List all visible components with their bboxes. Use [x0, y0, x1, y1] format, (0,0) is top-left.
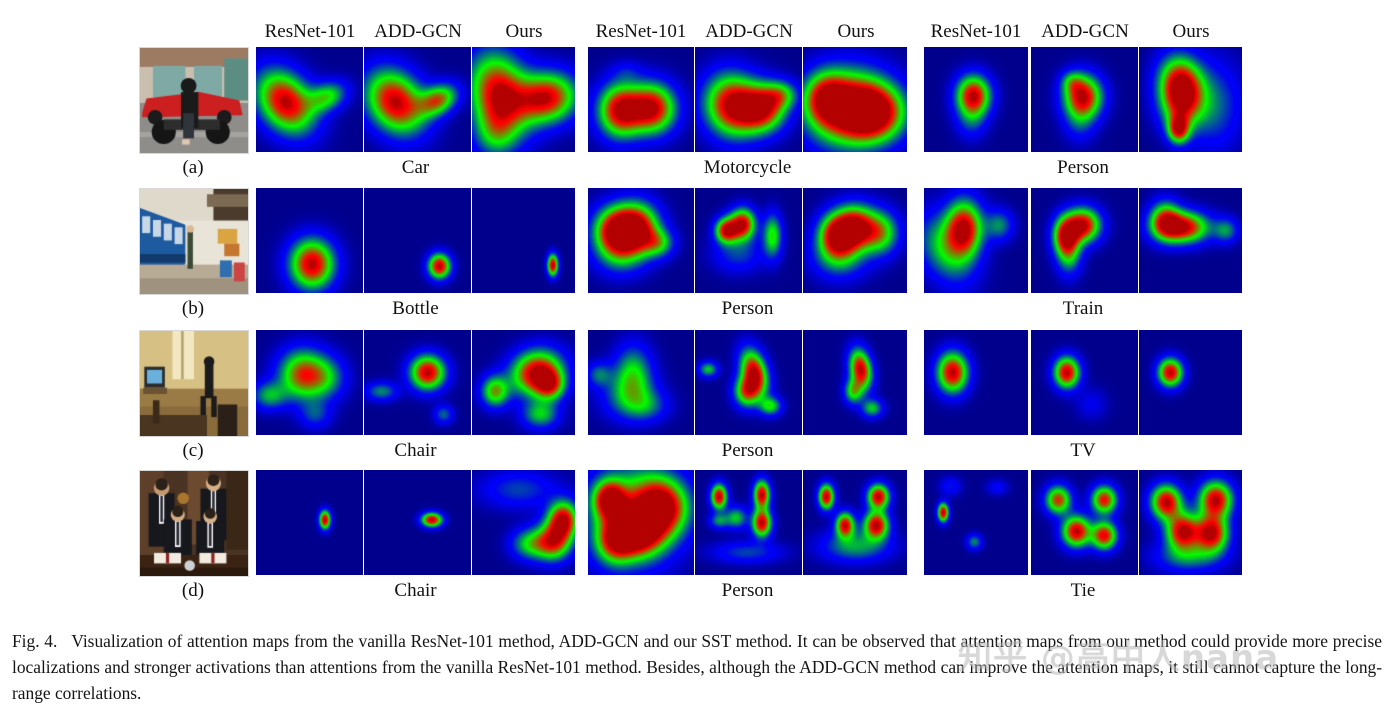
class-label-a-motorcycle: Motorcycle — [588, 157, 907, 179]
heatmap-a-person-ours — [1139, 47, 1242, 152]
class-label-c-chair: Chair — [256, 440, 575, 462]
heatmap-d-chair-ours — [472, 470, 575, 575]
heatmap-b-bottle-addgcn — [364, 188, 471, 293]
attention-map-figure: ResNet-101 ADD-GCN Ours ResNet-101 ADD-G… — [0, 0, 1393, 710]
heatmap-b-train-addgcn — [1031, 188, 1138, 293]
class-label-b-train: Train — [924, 298, 1242, 320]
heatmap-b-bottle-ours — [472, 188, 575, 293]
sample-photo-c — [139, 330, 249, 437]
figure-number: Fig. 4. — [12, 631, 57, 651]
heatmap-c-person-resnet101 — [588, 330, 694, 435]
column-header-addgcn-g2: ADD-GCN — [695, 20, 803, 44]
row-label-a: (a) — [139, 157, 247, 179]
heatmap-a-motorcycle-addgcn — [695, 47, 802, 152]
heatmap-c-tv-addgcn — [1031, 330, 1138, 435]
class-label-d-tie: Tie — [924, 580, 1242, 602]
class-label-b-person: Person — [588, 298, 907, 320]
heatmap-c-chair-ours — [472, 330, 575, 435]
class-label-a-person: Person — [924, 157, 1242, 179]
class-label-c-person: Person — [588, 440, 907, 462]
heatmap-c-tv-resnet101 — [924, 330, 1028, 435]
heatmap-b-person-resnet101 — [588, 188, 694, 293]
heatmap-c-tv-ours — [1139, 330, 1242, 435]
heatmap-c-chair-resnet101 — [256, 330, 363, 435]
column-header-addgcn-g1: ADD-GCN — [364, 20, 472, 44]
class-label-c-tv: TV — [924, 440, 1242, 462]
column-header-ours-g3: Ours — [1140, 20, 1242, 44]
heatmap-c-person-addgcn — [695, 330, 802, 435]
sample-photo-d — [139, 470, 249, 577]
figure-caption-text: Visualization of attention maps from the… — [12, 631, 1382, 703]
heatmap-b-train-ours — [1139, 188, 1242, 293]
heatmap-d-chair-addgcn — [364, 470, 471, 575]
heatmap-a-car-ours — [472, 47, 575, 152]
column-header-resnet101-g3: ResNet-101 — [924, 20, 1028, 44]
sample-photo-a — [139, 47, 249, 154]
class-label-a-car: Car — [256, 157, 575, 179]
row-label-c: (c) — [139, 440, 247, 462]
heatmap-b-person-addgcn — [695, 188, 802, 293]
heatmap-d-tie-resnet101 — [924, 470, 1028, 575]
heatmap-a-person-resnet101 — [924, 47, 1028, 152]
heatmap-a-car-addgcn — [364, 47, 471, 152]
class-label-d-chair: Chair — [256, 580, 575, 602]
column-header-ours-g2: Ours — [804, 20, 908, 44]
figure-row-d — [0, 470, 1393, 575]
heatmap-d-tie-ours — [1139, 470, 1242, 575]
heatmap-a-motorcycle-resnet101 — [588, 47, 694, 152]
heatmap-d-person-resnet101 — [588, 470, 694, 575]
figure-row-c — [0, 330, 1393, 435]
class-label-b-bottle: Bottle — [256, 298, 575, 320]
figure-row-a — [0, 47, 1393, 152]
column-header-ours-g1: Ours — [472, 20, 576, 44]
column-header-resnet101-g1: ResNet-101 — [256, 20, 364, 44]
figure-caption: Fig. 4.Visualization of attention maps f… — [12, 628, 1382, 706]
heatmap-c-person-ours — [803, 330, 907, 435]
heatmap-b-train-resnet101 — [924, 188, 1028, 293]
heatmap-b-person-ours — [803, 188, 907, 293]
class-label-d-person: Person — [588, 580, 907, 602]
heatmap-d-tie-addgcn — [1031, 470, 1138, 575]
row-label-b: (b) — [139, 298, 247, 320]
column-header-resnet101-g2: ResNet-101 — [588, 20, 694, 44]
row-label-d: (d) — [139, 580, 247, 602]
heatmap-d-person-ours — [803, 470, 907, 575]
heatmap-a-person-addgcn — [1031, 47, 1138, 152]
heatmap-c-chair-addgcn — [364, 330, 471, 435]
sample-photo-b — [139, 188, 249, 295]
heatmap-d-person-addgcn — [695, 470, 802, 575]
figure-row-b — [0, 188, 1393, 293]
heatmap-b-bottle-resnet101 — [256, 188, 363, 293]
heatmap-a-car-resnet101 — [256, 47, 363, 152]
column-header-addgcn-g3: ADD-GCN — [1031, 20, 1139, 44]
heatmap-d-chair-resnet101 — [256, 470, 363, 575]
heatmap-a-motorcycle-ours — [803, 47, 907, 152]
